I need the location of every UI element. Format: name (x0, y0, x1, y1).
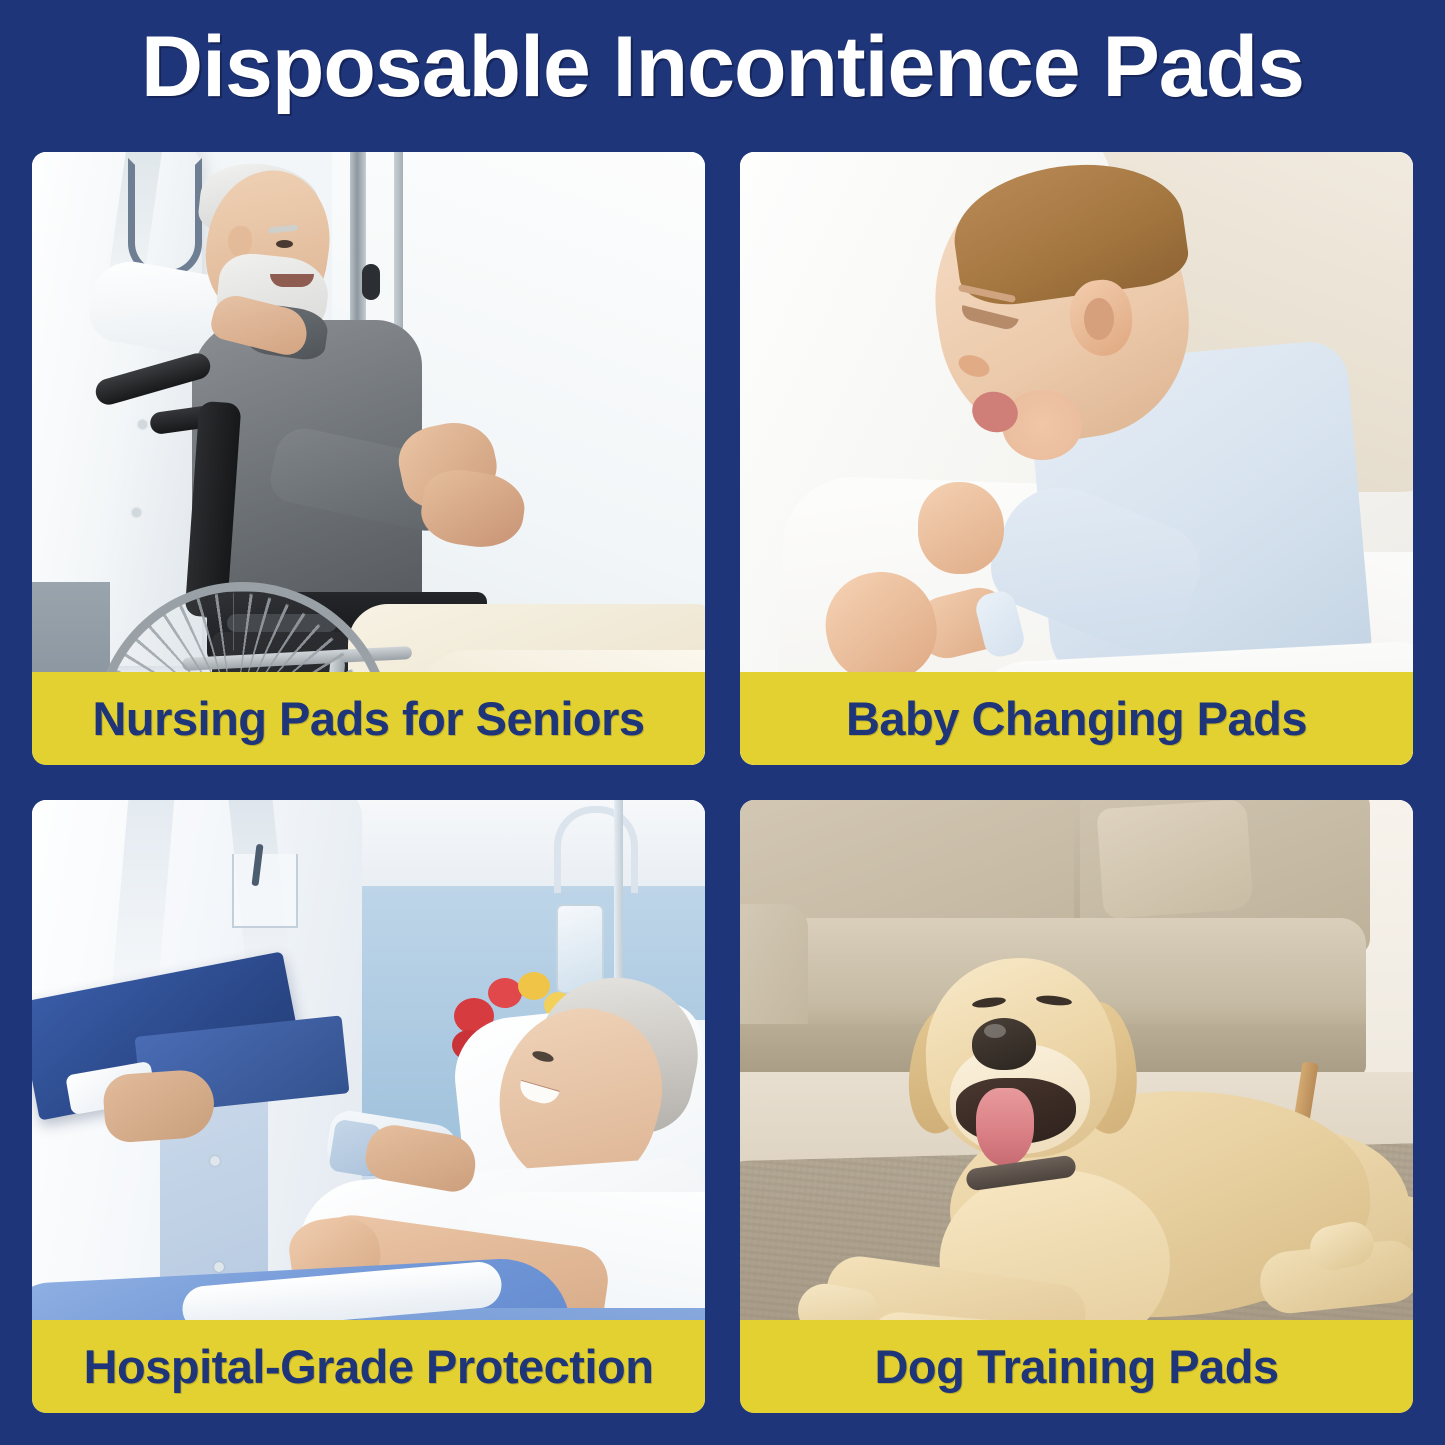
dog-nose-highlight-shape (984, 1024, 1006, 1038)
feature-card-baby-changing-pads[interactable]: Baby Changing Pads (740, 152, 1413, 765)
feature-card-hospital-grade-protection[interactable]: Hospital-Grade Protection (32, 800, 705, 1413)
coat-button-shape (214, 1262, 224, 1272)
product-infographic-poster: Disposable Incontience Pads (0, 0, 1445, 1445)
feature-card-dog-training-pads[interactable]: Dog Training Pads (740, 800, 1413, 1413)
baby-cheek-shape (1002, 390, 1082, 460)
card-caption: Dog Training Pads (740, 1320, 1413, 1413)
card-caption: Hospital-Grade Protection (32, 1320, 705, 1413)
iv-stand-hook-shape (554, 806, 638, 893)
coat-button-shape (138, 420, 147, 429)
card-caption: Nursing Pads for Seniors (32, 672, 705, 765)
page-title: Disposable Incontience Pads (0, 24, 1445, 110)
senior-mouth-shape (270, 274, 314, 287)
baby-fist-shape (918, 482, 1004, 574)
feature-card-nursing-pads-for-seniors[interactable]: Nursing Pads for Seniors (32, 152, 705, 765)
throw-pillow-shape (1096, 800, 1253, 919)
hospital-wall-upper-shape (312, 800, 705, 892)
feature-card-grid: Nursing Pads for Seniors (32, 152, 1413, 1413)
doctor-coat-pocket-shape (232, 854, 298, 928)
card-caption: Baby Changing Pads (740, 672, 1413, 765)
flower-red-shape (488, 978, 522, 1008)
stethoscope-shape (128, 158, 202, 277)
coat-button-shape (210, 1156, 220, 1166)
flower-yellow-shape (518, 972, 550, 1000)
dog-tongue-shape (976, 1088, 1034, 1166)
window-latch-shape (362, 264, 380, 300)
coat-button-shape (132, 508, 141, 517)
baby-inner-ear-shape (1084, 298, 1114, 340)
senior-ear-shape (228, 226, 252, 257)
dog-nose-shape (972, 1018, 1036, 1070)
senior-eye-shape (276, 240, 293, 248)
